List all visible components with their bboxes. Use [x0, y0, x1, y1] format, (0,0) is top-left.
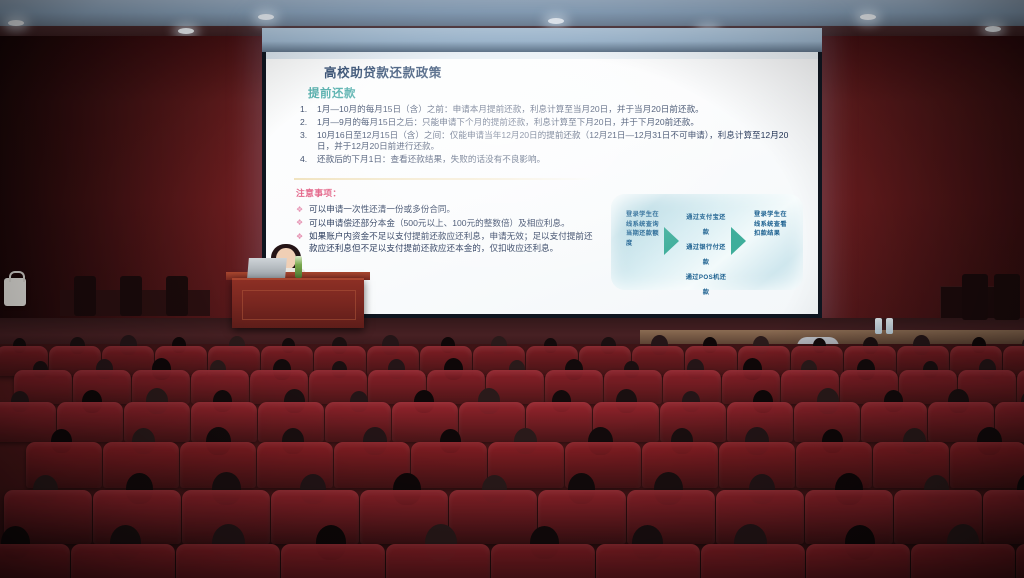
stage-chair-left-1	[74, 276, 96, 316]
slide-header-band	[266, 52, 818, 59]
downlight-icon	[985, 26, 1001, 32]
auditorium-seat	[950, 442, 1024, 488]
stage-chair-right-2	[994, 274, 1020, 320]
slide-list-item: 1.1月—10月的每月15日（含）之前：申请本月提前还款，利息计算至当月20日，…	[300, 104, 790, 115]
auditorium-seat	[411, 442, 487, 488]
stage-chair-left-3	[166, 276, 188, 316]
lecture-hall-photo: 高校助贷款还款政策 提前还款 1.1月—10月的每月15日（含）之前：申请本月提…	[0, 0, 1024, 578]
slide-note-item: ❖可以申请一次性还清一份或多份合同。	[296, 203, 596, 216]
slide-list-item-number: 4.	[300, 154, 317, 165]
auditorium-seat	[449, 490, 537, 544]
slide-list-item: 3.10月16日至12月15日（含）之间：仅能申请当年12月20日的提前还款（1…	[300, 130, 790, 153]
slide-note-text: 如果账户内资金不足以支付提前还款应还利息，申请无效；足以支付提前还款应还利息但不…	[309, 230, 596, 254]
slide-list-item-number: 2.	[300, 117, 317, 128]
slide-notes-heading: 注意事项：	[296, 186, 596, 199]
slide-divider	[294, 178, 592, 180]
downlight-icon	[258, 14, 274, 20]
auditorium-seat	[983, 490, 1024, 544]
auditorium-seat	[911, 544, 1015, 578]
flow-step-2-line: 通过银行付还款	[683, 240, 729, 270]
flow-step-3-label: 登录学生在线系统查看扣款结果	[754, 210, 788, 239]
auditorium-seat	[596, 544, 700, 578]
auditorium-seat	[281, 544, 385, 578]
slide-list-item-number: 1.	[300, 104, 317, 115]
podium-laptop	[247, 258, 287, 278]
downlight-icon	[8, 20, 24, 26]
flow-step-1-label: 登录学生在线系统查询当期还款额度	[626, 210, 660, 248]
slide-notes-list: ❖可以申请一次性还清一份或多份合同。❖可以申请偿还部分本金（500元以上、100…	[296, 203, 596, 254]
slide-list-item-text: 1月—10月的每月15日（含）之前：申请本月提前还款，利息计算至当月20日，并于…	[317, 104, 790, 115]
slide-numbered-list: 1.1月—10月的每月15日（含）之前：申请本月提前还款，利息计算至当月20日，…	[300, 104, 790, 167]
slide-note-item: ❖可以申请偿还部分本金（500元以上、100元的整数倍）及相应利息。	[296, 217, 596, 230]
slide-note-text: 可以申请偿还部分本金（500元以上、100元的整数倍）及相应利息。	[309, 217, 596, 230]
repayment-flow-diagram: 登录学生在线系统查询当期还款额度 通过支付宝还款通过银行付还款通过POS机还款 …	[611, 194, 803, 290]
diamond-bullet-icon: ❖	[296, 203, 309, 216]
slide-subtitle: 提前还款	[308, 85, 356, 101]
slide-list-item-text: 10月16日至12月15日（含）之间：仅能申请当年12月20日的提前还款（12月…	[317, 130, 790, 153]
podium-front-panel	[242, 290, 356, 320]
slide-note-text: 可以申请一次性还清一份或多份合同。	[309, 203, 596, 216]
slide-notes-block: 注意事项： ❖可以申请一次性还清一份或多份合同。❖可以申请偿还部分本金（500元…	[296, 186, 596, 255]
slide-list-item-text: 还款后的下月1日：查看还款结果，失败的话没有不良影响。	[317, 154, 790, 165]
slide-list-item-text: 1月—9月的每月15日之后：只能申请下个月的提前还款，利息计算至下月20日，并于…	[317, 117, 790, 128]
flow-arrow-2-icon	[731, 227, 746, 255]
podium	[232, 278, 364, 328]
flow-step-2-line: 通过支付宝还款	[683, 210, 729, 240]
downlight-icon	[860, 14, 876, 20]
auditorium-seat	[386, 544, 490, 578]
slide-note-item: ❖如果账户内资金不足以支付提前还款应还利息，申请无效；足以支付提前还款应还利息但…	[296, 230, 596, 254]
diamond-bullet-icon: ❖	[296, 217, 309, 230]
audience-area	[0, 344, 1024, 578]
hanging-bag	[4, 278, 26, 306]
stage-chair-left-2	[120, 276, 142, 316]
flow-step-2-label: 通过支付宝还款通过银行付还款通过POS机还款	[683, 210, 729, 300]
slide-title: 高校助贷款还款政策	[324, 62, 442, 81]
downlight-icon	[178, 28, 194, 34]
auditorium-seat	[1016, 544, 1024, 578]
water-bottle-2	[886, 318, 893, 334]
flow-arrow-1-icon	[664, 227, 679, 255]
flow-step-2-line: 通过POS机还款	[683, 270, 729, 300]
water-bottle-1	[875, 318, 882, 334]
auditorium-seat	[427, 370, 485, 404]
stage-chair-right-1	[962, 274, 988, 320]
auditorium-seat	[71, 544, 175, 578]
auditorium-seat	[660, 402, 726, 442]
slide-list-item: 4.还款后的下月1日：查看还款结果，失败的话没有不良影响。	[300, 154, 790, 165]
slide-list-item: 2.1月—9月的每月15日之后：只能申请下个月的提前还款，利息计算至下月20日，…	[300, 117, 790, 128]
auditorium-seat	[491, 544, 595, 578]
auditorium-seat	[271, 490, 359, 544]
auditorium-seat	[0, 544, 70, 578]
podium-water-bottle	[295, 256, 302, 278]
auditorium-seat	[0, 402, 56, 442]
auditorium-seat	[701, 544, 805, 578]
auditorium-seat	[176, 544, 280, 578]
screen-top-band	[262, 28, 822, 52]
downlight-icon	[548, 18, 564, 24]
slide-list-item-number: 3.	[300, 130, 317, 153]
auditorium-seat	[806, 544, 910, 578]
